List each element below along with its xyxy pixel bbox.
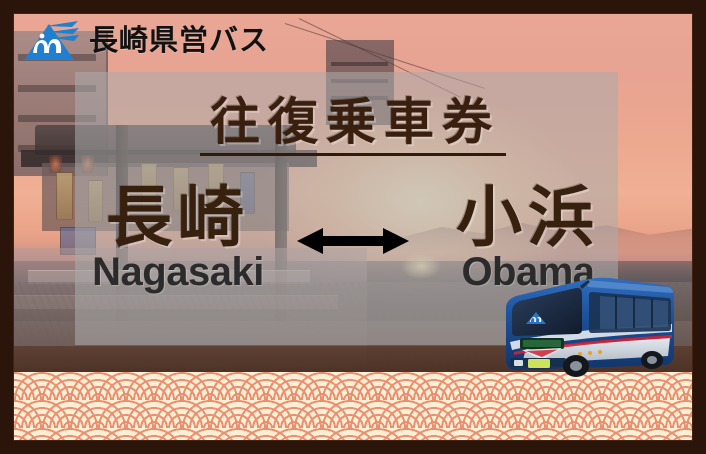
background-photo-stage: 長崎県営バス 往復乗車券 長崎 Nagasaki 小浜 bbox=[14, 14, 692, 440]
destination-kanji: 小浜 bbox=[414, 182, 642, 253]
nagasaki-kenei-bus-wing-logo-icon bbox=[22, 20, 80, 62]
brand-name: 長崎県営バス bbox=[89, 27, 269, 56]
brand-lockup: 長崎県営バス bbox=[22, 20, 269, 62]
bus-illustration-icon bbox=[492, 272, 678, 384]
round-trip-ticket-banner: 長崎県営バス 往復乗車券 長崎 Nagasaki 小浜 bbox=[0, 0, 706, 454]
double-headed-arrow-icon bbox=[297, 226, 409, 256]
origin-romaji: Nagasaki bbox=[64, 251, 292, 293]
route-arrow bbox=[292, 182, 414, 256]
ticket-content: 長崎県営バス 往復乗車券 長崎 Nagasaki 小浜 bbox=[14, 14, 692, 440]
route-origin: 長崎 Nagasaki bbox=[64, 182, 292, 293]
origin-kanji: 長崎 bbox=[64, 182, 292, 253]
headline-wrapper: 往復乗車券 bbox=[14, 96, 692, 156]
highway-bus-photo bbox=[492, 272, 678, 384]
page-title: 往復乗車券 bbox=[200, 96, 506, 156]
